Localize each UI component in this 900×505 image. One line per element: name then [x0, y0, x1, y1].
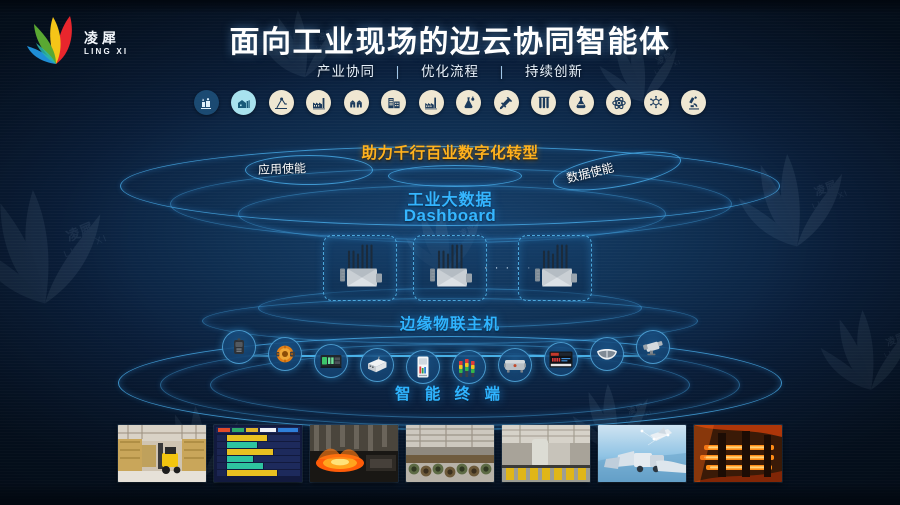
- photo-logistics[interactable]: [598, 425, 686, 482]
- edge-gateway-icon: [526, 241, 584, 296]
- terminal-tower-light[interactable]: [452, 350, 486, 384]
- terminal-industrial-camera[interactable]: [636, 330, 670, 364]
- terminal-rotary-actuator[interactable]: [268, 337, 302, 371]
- edge-layer-label: 边缘物联主机: [0, 312, 900, 334]
- gold-headline: 助力千行百业数字化转型: [0, 141, 900, 163]
- photo-molten-steel[interactable]: [310, 425, 398, 482]
- terminal-ar-glasses[interactable]: [590, 337, 624, 371]
- photo-steel-pipes[interactable]: [406, 425, 494, 482]
- photo-scheduling-dashboard[interactable]: [214, 425, 302, 482]
- platform-title-en: Dashboard: [0, 206, 900, 226]
- edge-gateway-icon: [331, 241, 389, 296]
- terminal-plc-controller[interactable]: [314, 344, 348, 378]
- edge-gateway-icon: [421, 241, 479, 296]
- slide-canvas: 凌犀LING XI 凌犀LING XI 凌犀LING XI: [0, 0, 900, 505]
- terminal-industrial-router[interactable]: [360, 348, 394, 382]
- edge-host-3[interactable]: [518, 235, 592, 301]
- photo-rolling-mill[interactable]: [694, 425, 782, 482]
- terminal-gateway-box[interactable]: [498, 348, 532, 382]
- photo-strip: [0, 425, 900, 483]
- terminal-vibration-sensor[interactable]: [222, 330, 256, 364]
- terminal-hmi-panel[interactable]: [544, 342, 578, 376]
- terminal-layer-label: 智 能 终 端: [0, 382, 900, 404]
- photo-warehouse-forklift[interactable]: [118, 425, 206, 482]
- bottom-fade-overlay: [0, 483, 900, 505]
- app-enable-label: 应用使能: [258, 159, 307, 178]
- photo-production-line[interactable]: [502, 425, 590, 482]
- edge-host-2[interactable]: [413, 235, 487, 301]
- terminal-meter-display[interactable]: [406, 350, 440, 384]
- edge-host-1[interactable]: [323, 235, 397, 301]
